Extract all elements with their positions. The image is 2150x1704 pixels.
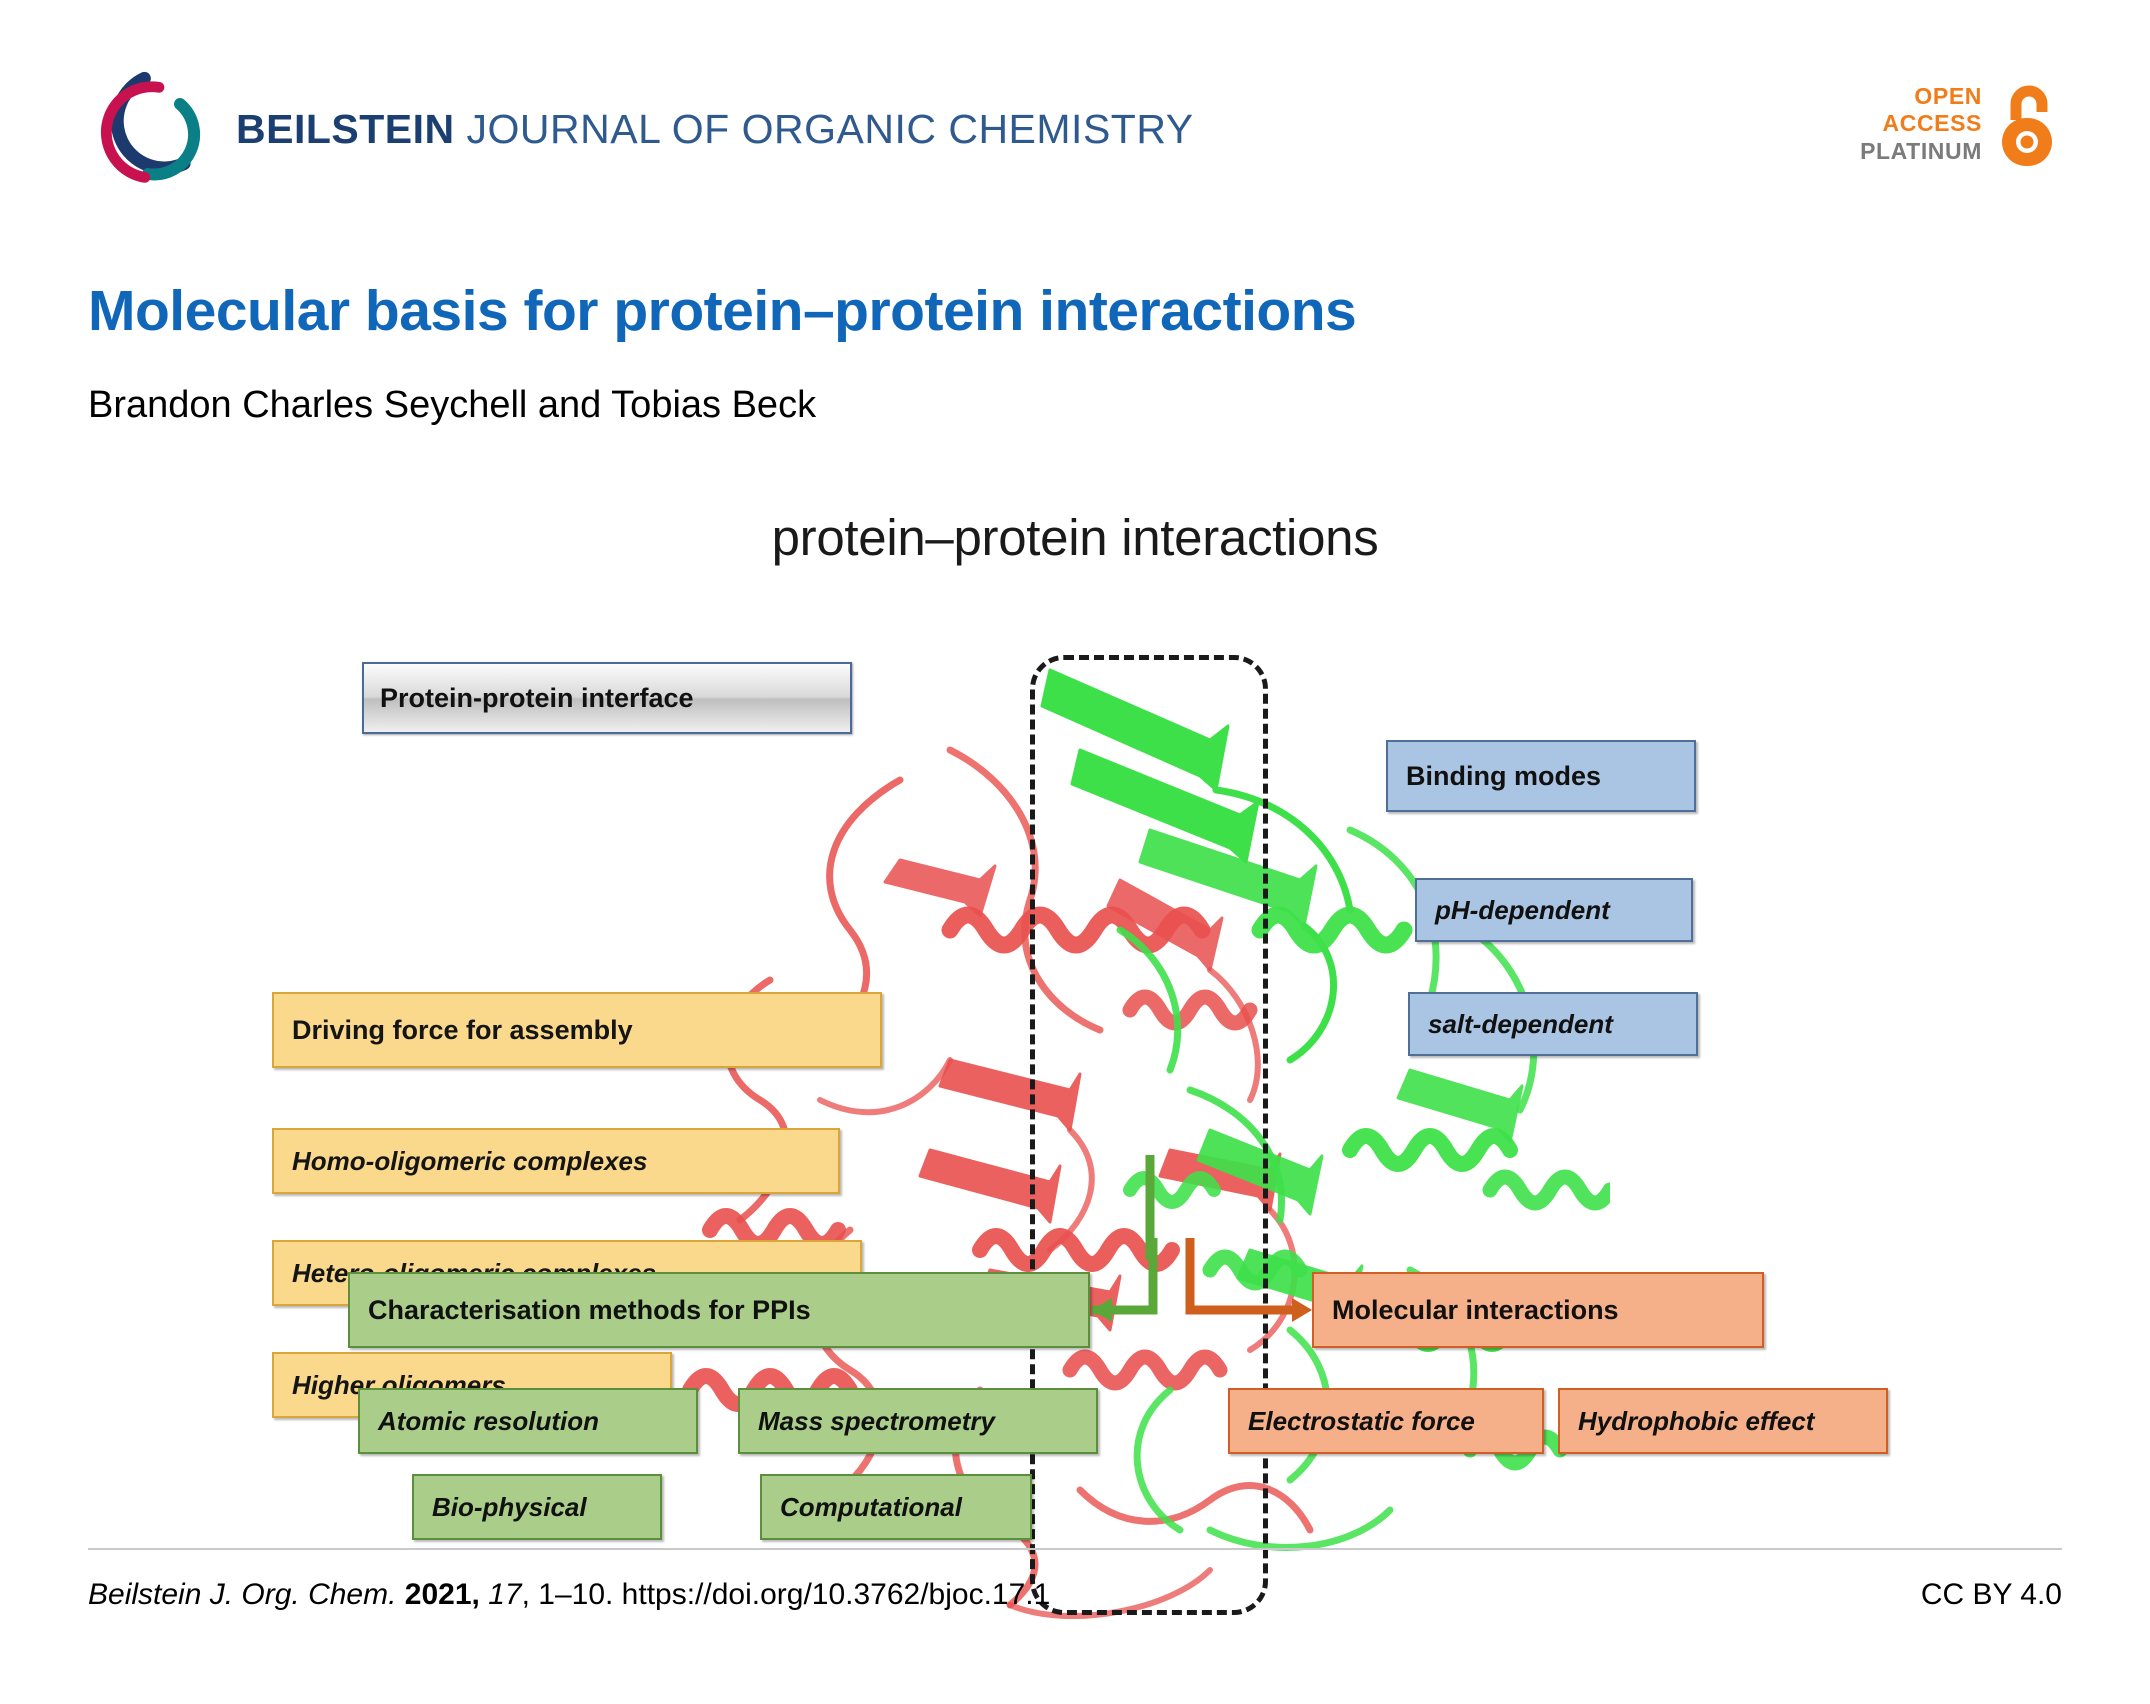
figure-heading: protein–protein interactions — [350, 508, 1800, 567]
label-binding-modes-text: Binding modes — [1406, 763, 1676, 790]
label-molecular-interactions-text: Molecular interactions — [1332, 1297, 1744, 1324]
beilstein-triple-arc-logo-icon — [88, 70, 206, 188]
label-characterisation-text: Characterisation methods for PPIs — [368, 1297, 1070, 1324]
footer-divider — [88, 1548, 2062, 1550]
label-hydrophobic-effect[interactable]: Hydrophobic effect — [1558, 1388, 1888, 1454]
citation-comma: , — [472, 1578, 480, 1611]
citation-journal: Beilstein J. Org. Chem. — [88, 1578, 396, 1611]
citation-volume: 17 — [488, 1578, 521, 1611]
license-label: CC BY 4.0 — [1921, 1578, 2062, 1612]
page-header: BEILSTEIN JOURNAL OF ORGANIC CHEMISTRY O… — [0, 0, 2150, 230]
open-access-line1: OPEN — [1860, 83, 1982, 110]
open-lock-icon — [1996, 80, 2058, 168]
label-electrostatic-force[interactable]: Electrostatic force — [1228, 1388, 1544, 1454]
label-protein-protein-interface[interactable]: Protein-protein interface — [362, 662, 852, 734]
journal-brand: BEILSTEIN JOURNAL OF ORGANIC CHEMISTRY — [88, 70, 1194, 188]
journal-name-light: JOURNAL OF ORGANIC CHEMISTRY — [455, 106, 1194, 152]
open-access-line3: PLATINUM — [1860, 138, 1982, 165]
journal-name-bold: BEILSTEIN — [236, 106, 455, 152]
label-computational[interactable]: Computational — [760, 1474, 1032, 1540]
open-access-text: OPEN ACCESS PLATINUM — [1860, 83, 1982, 164]
citation-year: 2021 — [405, 1578, 472, 1611]
label-atomic-resolution-text: Atomic resolution — [378, 1408, 678, 1434]
label-ph-dependent[interactable]: pH-dependent — [1415, 878, 1693, 942]
label-protein-protein-interface-text: Protein-protein interface — [380, 685, 834, 712]
label-homo-oligomeric-complexes[interactable]: Homo-oligomeric complexes — [272, 1128, 840, 1194]
label-characterisation-methods-for-ppis[interactable]: Characterisation methods for PPIs — [348, 1272, 1090, 1348]
citation-line: Beilstein J. Org. Chem. 2021, 17, 1–10. … — [88, 1578, 1050, 1612]
label-bio-physical[interactable]: Bio-physical — [412, 1474, 662, 1540]
label-driving-force-text: Driving force for assembly — [292, 1017, 862, 1044]
label-binding-modes[interactable]: Binding modes — [1386, 740, 1696, 812]
open-access-badge: OPEN ACCESS PLATINUM — [1860, 80, 2058, 168]
label-mass-spectrometry[interactable]: Mass spectrometry — [738, 1388, 1098, 1454]
author-list: Brandon Charles Seychell and Tobias Beck — [88, 343, 2058, 427]
page-footer: Beilstein J. Org. Chem. 2021, 17, 1–10. … — [88, 1578, 2062, 1612]
protein-interface-dashed-box — [1030, 655, 1268, 1615]
label-electrostatic-force-text: Electrostatic force — [1248, 1408, 1524, 1434]
open-access-line2: ACCESS — [1860, 110, 1982, 137]
label-molecular-interactions[interactable]: Molecular interactions — [1312, 1272, 1764, 1348]
label-atomic-resolution[interactable]: Atomic resolution — [358, 1388, 698, 1454]
label-homo-oligomeric-text: Homo-oligomeric complexes — [292, 1148, 820, 1174]
label-computational-text: Computational — [780, 1494, 1012, 1520]
article-header: Molecular basis for protein–protein inte… — [88, 280, 2058, 426]
label-ph-dependent-text: pH-dependent — [1435, 897, 1673, 923]
citation-pages-doi: , 1–10. https://doi.org/10.3762/bjoc.17.… — [522, 1578, 1051, 1611]
label-driving-force-for-assembly[interactable]: Driving force for assembly — [272, 992, 882, 1068]
graphical-abstract-figure: protein–protein interactions — [350, 500, 1800, 1510]
page-title: Molecular basis for protein–protein inte… — [88, 280, 2058, 343]
label-bio-physical-text: Bio-physical — [432, 1494, 642, 1520]
journal-title: BEILSTEIN JOURNAL OF ORGANIC CHEMISTRY — [236, 106, 1194, 153]
label-mass-spectrometry-text: Mass spectrometry — [758, 1408, 1078, 1434]
label-salt-dependent[interactable]: salt-dependent — [1408, 992, 1698, 1056]
label-hydrophobic-effect-text: Hydrophobic effect — [1578, 1408, 1868, 1434]
label-salt-dependent-text: salt-dependent — [1428, 1011, 1678, 1037]
